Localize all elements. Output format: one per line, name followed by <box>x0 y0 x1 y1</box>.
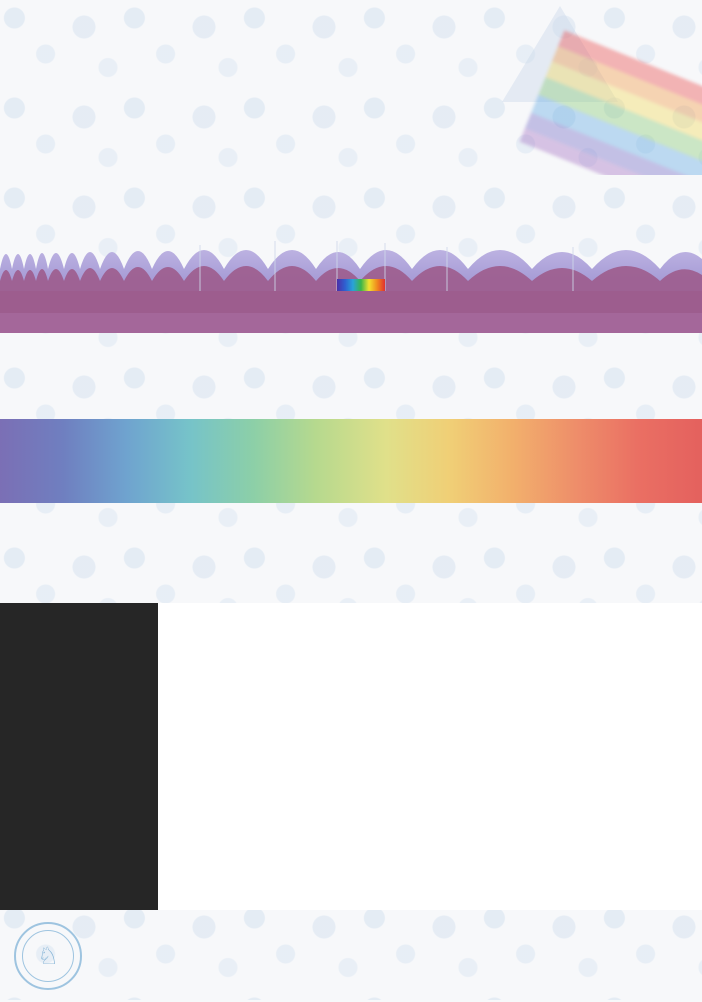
header-section <box>0 0 702 175</box>
title-row <box>0 0 702 24</box>
langitselatan-seal-logo: ♘ <box>14 922 82 990</box>
spectral-class-chart <box>0 603 702 910</box>
header-columns <box>0 24 702 38</box>
statement-block <box>0 503 702 601</box>
temperature-column <box>630 603 702 910</box>
star-size-column <box>0 603 120 910</box>
footer-section: ♘ <box>0 910 702 1002</box>
satellite-band <box>0 169 702 229</box>
infographic-page: ♘ <box>0 0 702 1000</box>
class-letter-column <box>120 603 158 910</box>
wavelength-strip <box>0 313 702 333</box>
spectrum-strips-column <box>158 603 630 910</box>
statement-row-2 <box>14 557 692 603</box>
visible-spectrum-panel <box>0 419 702 503</box>
seal-inner-emblem: ♘ <box>22 930 74 982</box>
spectrum-band-strip <box>0 291 702 313</box>
optical-rainbow-strip <box>337 279 385 291</box>
statement-row-1 <box>14 511 692 557</box>
sources-row <box>0 333 702 413</box>
